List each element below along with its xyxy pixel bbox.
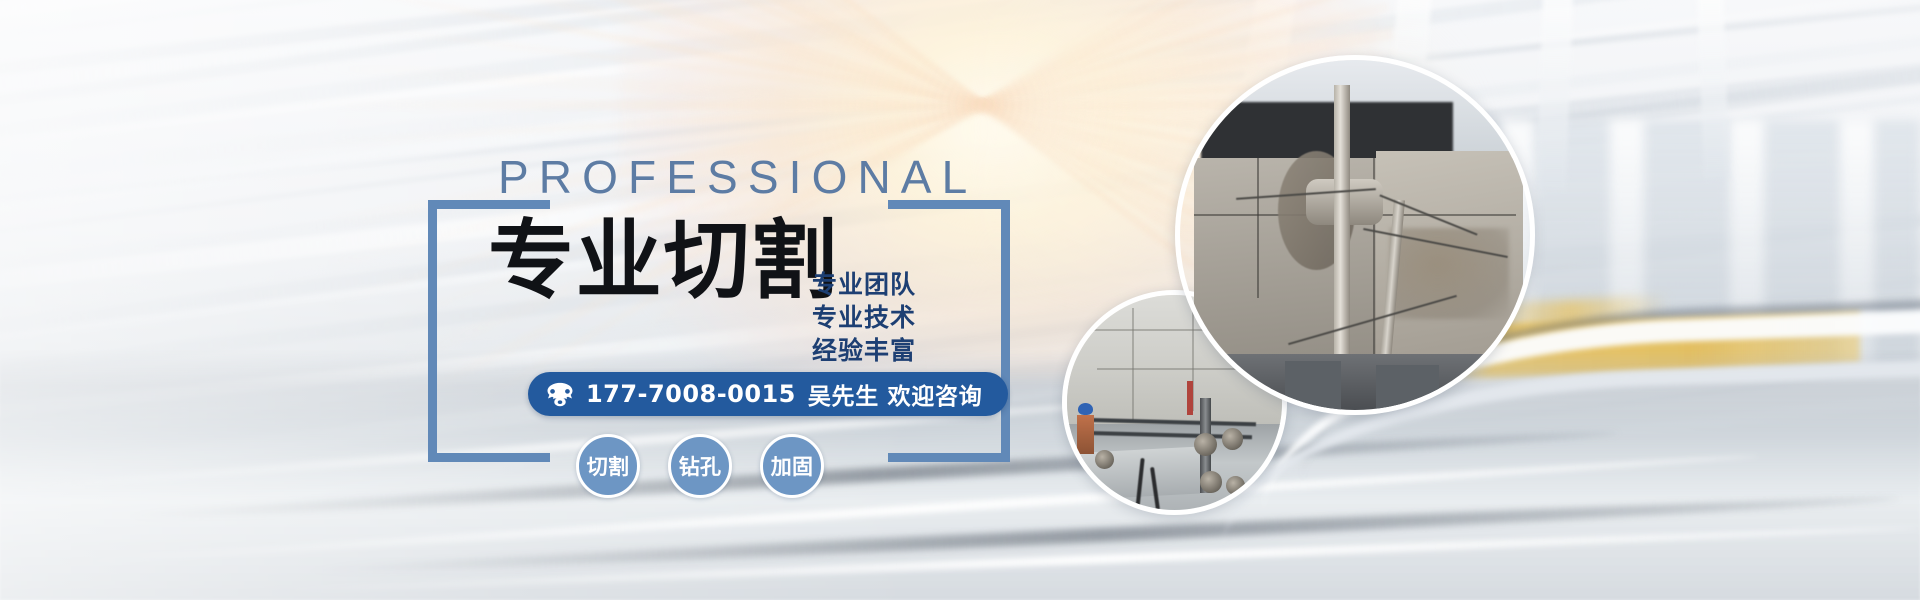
photo-concrete-wall-saw bbox=[1175, 55, 1535, 415]
banner-content: PROFESSIONAL 专业切割 专业团队 专业技术 经验丰富 177-700… bbox=[0, 0, 1920, 600]
saw-pulley bbox=[1200, 471, 1222, 493]
saw-pulley bbox=[1222, 428, 1244, 450]
vertical-saw-rail bbox=[1334, 85, 1350, 386]
service-badge-cutting[interactable]: 切割 bbox=[576, 434, 640, 498]
concrete-seam bbox=[1257, 158, 1259, 298]
machine-base bbox=[1194, 354, 1516, 410]
worker-helmet bbox=[1078, 403, 1093, 416]
feature-item: 专业技术 bbox=[812, 301, 916, 334]
feature-item: 经验丰富 bbox=[812, 334, 916, 367]
floor-gap bbox=[1285, 361, 1341, 410]
contact-pill[interactable]: 177-7008-0015 吴先生 欢迎咨询 bbox=[528, 372, 1008, 416]
worker-body bbox=[1077, 415, 1094, 454]
wall-seam bbox=[1132, 308, 1134, 420]
service-badge-drilling[interactable]: 钻孔 bbox=[668, 434, 732, 498]
contact-person: 吴先生 欢迎咨询 bbox=[808, 377, 983, 411]
phone-number: 177-7008-0015 bbox=[586, 380, 796, 408]
headline-text: 专业切割 bbox=[488, 218, 839, 304]
service-badge-group: 切割 钻孔 加固 bbox=[576, 434, 824, 498]
telephone-icon bbox=[546, 381, 574, 407]
feature-list: 专业团队 专业技术 经验丰富 bbox=[812, 268, 916, 367]
service-badge-reinforcement[interactable]: 加固 bbox=[760, 434, 824, 498]
promo-banner: PROFESSIONAL 专业切割 专业团队 专业技术 经验丰富 177-700… bbox=[0, 0, 1920, 600]
cut-slab bbox=[1067, 446, 1200, 500]
concrete-spall bbox=[1390, 228, 1509, 319]
floor-gap bbox=[1376, 365, 1439, 411]
feature-item: 专业团队 bbox=[812, 268, 916, 301]
eyebrow-text: PROFESSIONAL bbox=[498, 154, 977, 200]
photo-main-content bbox=[1180, 60, 1530, 410]
